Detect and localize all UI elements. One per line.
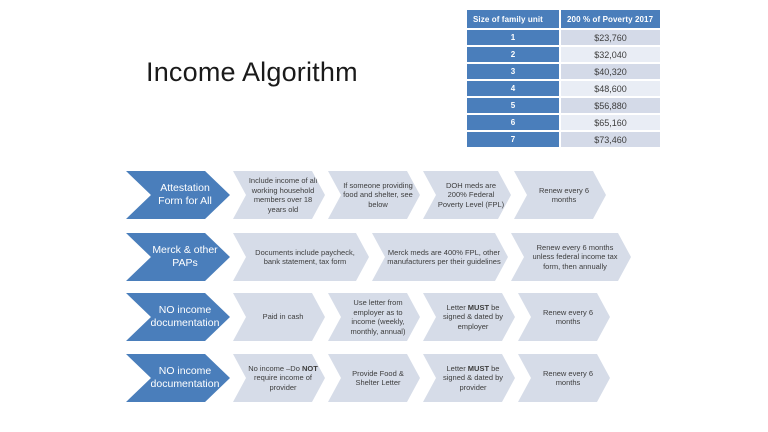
process-step-label: Letter MUST be signed & dated by employe… (437, 303, 509, 332)
process-step-label: Provide Food & Shelter Letter (342, 369, 414, 388)
table-row: 4 $48,600 (467, 81, 660, 98)
cell-family-size: 4 (467, 81, 559, 98)
table-row: 5 $56,880 (467, 98, 660, 115)
process-step[interactable]: Letter MUST be signed & dated by employe… (423, 293, 515, 341)
process-step[interactable]: Merck meds are 400% FPL, other manufactu… (372, 233, 508, 281)
process-step-label: Renew every 6 months (532, 369, 604, 388)
cell-family-size: 6 (467, 115, 559, 132)
table-row: 1 $23,760 (467, 30, 660, 47)
process-lead-label: NO income documentation (148, 365, 222, 391)
process-step[interactable]: Paid in cash (233, 293, 325, 341)
cell-family-size: 1 (467, 30, 559, 47)
process-step-label: Renew every 6 months (528, 186, 600, 205)
process-step[interactable]: Renew every 6 months unless federal inco… (511, 233, 631, 281)
process-lead-label: Attestation Form for All (148, 182, 222, 208)
table-row: 2 $32,040 (467, 47, 660, 64)
table-row: 3 $40,320 (467, 64, 660, 81)
process-step-label: Use letter from employer as to income (w… (342, 298, 414, 336)
process-step[interactable]: Renew every 6 months (514, 171, 606, 219)
process-step[interactable]: No income –Do NOT require income of prov… (233, 354, 325, 402)
cell-poverty-amount: $32,040 (559, 47, 660, 64)
process-step[interactable]: Renew every 6 months (518, 293, 610, 341)
process-lead-attestation[interactable]: Attestation Form for All (126, 171, 230, 219)
cell-family-size: 3 (467, 64, 559, 81)
process-lead-no-income-documentation[interactable]: NO income documentation (126, 293, 230, 341)
process-step[interactable]: DOH meds are 200% Federal Poverty Level … (423, 171, 511, 219)
process-step-label: Include income of all working household … (247, 176, 319, 214)
process-step[interactable]: Provide Food & Shelter Letter (328, 354, 420, 402)
table-header-size-of-family-unit: Size of family unit (467, 10, 559, 30)
process-lead-label: NO income documentation (148, 304, 222, 330)
process-step[interactable]: Documents include paycheck, bank stateme… (233, 233, 369, 281)
page-title: Income Algorithm (146, 55, 476, 89)
table-header-200-percent-poverty: 200 % of Poverty 2017 (559, 10, 660, 30)
process-step[interactable]: Letter MUST be signed & dated by provide… (423, 354, 515, 402)
cell-family-size: 5 (467, 98, 559, 115)
cell-poverty-amount: $65,160 (559, 115, 660, 132)
process-step-label: If someone providing food and shelter, s… (342, 181, 414, 210)
table-row: 7 $73,460 (467, 132, 660, 149)
process-step-label: No income –Do NOT require income of prov… (247, 364, 319, 393)
process-step[interactable]: If someone providing food and shelter, s… (328, 171, 420, 219)
process-step-label: Merck meds are 400% FPL, other manufactu… (386, 248, 502, 267)
table-row: 6 $65,160 (467, 115, 660, 132)
cell-family-size: 2 (467, 47, 559, 64)
process-step-label: Renew every 6 months (532, 308, 604, 327)
process-lead-merck-paps[interactable]: Merck & other PAPs (126, 233, 230, 281)
cell-poverty-amount: $56,880 (559, 98, 660, 115)
process-row-attestation: Attestation Form for All Include income … (126, 171, 606, 219)
process-step[interactable]: Use letter from employer as to income (w… (328, 293, 420, 341)
process-lead-label: Merck & other PAPs (148, 244, 222, 270)
cell-poverty-amount: $73,460 (559, 132, 660, 149)
process-step-label: Paid in cash (263, 312, 304, 322)
cell-poverty-amount: $23,760 (559, 30, 660, 47)
cell-poverty-amount: $40,320 (559, 64, 660, 81)
process-lead-no-income-documentation[interactable]: NO income documentation (126, 354, 230, 402)
process-row-no-income-provider: NO income documentation No income –Do NO… (126, 354, 610, 402)
poverty-guidelines-table: Size of family unit 200 % of Poverty 201… (467, 10, 660, 149)
process-row-no-income-employer: NO income documentation Paid in cash Use… (126, 293, 610, 341)
process-row-merck-paps: Merck & other PAPs Documents include pay… (126, 233, 631, 281)
process-step[interactable]: Include income of all working household … (233, 171, 325, 219)
process-step-label: Documents include paycheck, bank stateme… (247, 248, 363, 267)
table-header-row: Size of family unit 200 % of Poverty 201… (467, 10, 660, 30)
process-step-label: Renew every 6 months unless federal inco… (525, 243, 625, 272)
process-step[interactable]: Renew every 6 months (518, 354, 610, 402)
table-body: 1 $23,760 2 $32,040 3 $40,320 4 $48,600 … (467, 30, 660, 149)
cell-family-size: 7 (467, 132, 559, 149)
cell-poverty-amount: $48,600 (559, 81, 660, 98)
process-step-label: DOH meds are 200% Federal Poverty Level … (437, 181, 505, 210)
process-step-label: Letter MUST be signed & dated by provide… (437, 364, 509, 393)
